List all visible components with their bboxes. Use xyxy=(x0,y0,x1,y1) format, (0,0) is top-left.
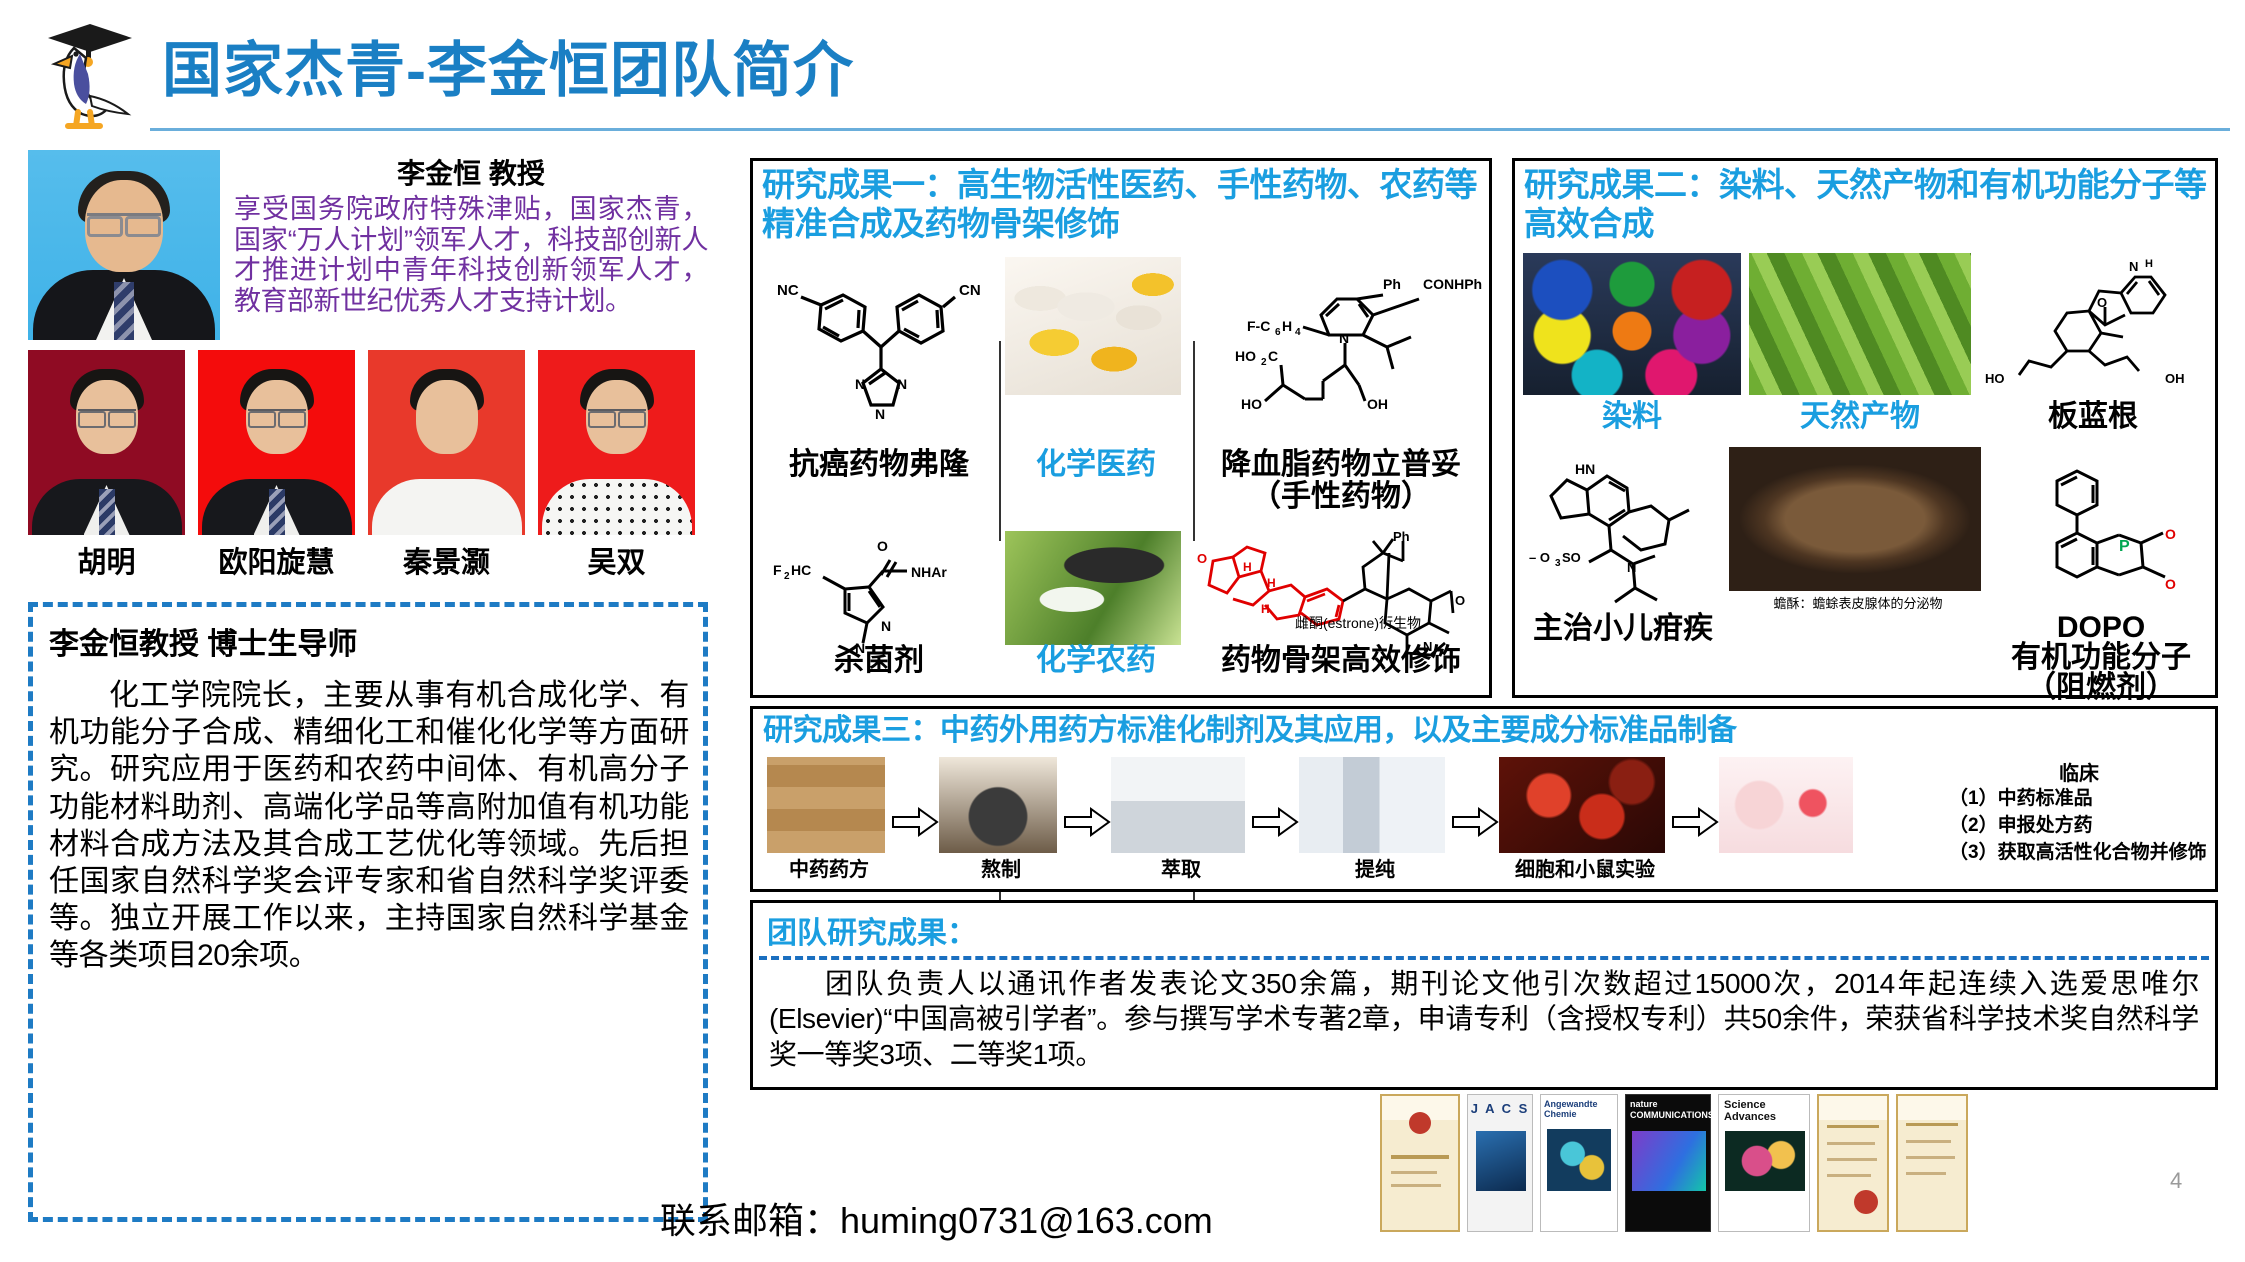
svg-text:Ph: Ph xyxy=(1383,276,1401,292)
flow-step: 熬制 xyxy=(939,757,1063,882)
svg-text:H: H xyxy=(2145,258,2153,270)
panel1-label-5: 化学农药 xyxy=(999,645,1193,677)
certificate-image-2 xyxy=(1817,1094,1889,1232)
clinical-list-title: 临床 xyxy=(1949,757,2209,786)
svg-text:O: O xyxy=(1197,551,1207,566)
panel2-cell-4: HN – O 3 SO N xyxy=(1523,447,1723,637)
panel1-label-3: 降血脂药物立普妥 （手性药物） xyxy=(1193,449,1489,512)
atorvastatin-structure-icon: Ph CONHPh F-C 6 H 4 HO 2 C HO OH xyxy=(1187,253,1487,443)
professor-text: 李金恒 教授 享受国务院政府特殊津贴，国家杰青，国家“万人计划”领军人才，科技部… xyxy=(234,150,708,316)
panel2-cell-3: N H HO OH O xyxy=(1979,253,2207,403)
toad-note: 蟾酥：蟾蜍表皮腺体的分泌物 xyxy=(1729,593,1987,612)
svg-text:OH: OH xyxy=(1367,396,1388,412)
student-name: 胡明 xyxy=(28,539,185,581)
svg-text:OH: OH xyxy=(2165,371,2185,386)
svg-text:H: H xyxy=(1267,576,1276,590)
flow-step: 细胞和小鼠实验 xyxy=(1499,757,1671,882)
svg-text:– O: – O xyxy=(1529,550,1550,565)
clinical-list-item: （3）获取高活性化合物并修饰 xyxy=(1949,840,2209,867)
student-avatar xyxy=(28,350,185,535)
professor-detail-body: 化工学院院长，主要从事有机合成化学、有机功能分子合成、精细化工和催化化学等方面研… xyxy=(49,677,689,975)
svg-text:HO: HO xyxy=(1235,348,1256,364)
flow-arrow-icon xyxy=(1251,805,1299,839)
dopo-structure-icon: P O O xyxy=(1993,447,2209,637)
flow-arrow-icon xyxy=(891,805,939,839)
professor-detail-title: 李金恒教授 博士生导师 xyxy=(49,619,689,663)
svg-text:H: H xyxy=(1282,318,1292,334)
panel1-cell-6: Ph O H H H xyxy=(1187,527,1487,657)
svg-text:2: 2 xyxy=(1261,357,1267,368)
professor-avatar xyxy=(28,150,220,340)
toad-photo xyxy=(1729,447,1981,591)
panel2-label-2: 天然产物 xyxy=(1749,401,1971,433)
clinical-list-item: （2）申报处方药 xyxy=(1949,813,2209,840)
cell-mouse-experiment-photo xyxy=(1499,757,1665,853)
page-title: 国家杰青-李金恒团队简介 xyxy=(162,22,854,109)
student-name: 欧阳旋慧 xyxy=(198,539,355,581)
student-photo-row: 胡明 欧阳旋慧 秦景灏 吴双 xyxy=(28,350,708,580)
research-panel-1-title: 研究成果一：高生物活性医药、手性药物、农药等精准合成及药物骨架修饰 xyxy=(753,161,1489,243)
svg-text:N: N xyxy=(1627,560,1636,575)
certificate-image-3 xyxy=(1896,1094,1968,1232)
team-achievements-body: 团队负责人以通讯作者发表论文350余篇，期刊论文他引次数超过15000次，201… xyxy=(753,966,2215,1072)
svg-text:O: O xyxy=(2165,576,2176,592)
clinical-list-item: （1）中药标准品 xyxy=(1949,786,2209,813)
svg-text:N: N xyxy=(897,376,907,392)
team-achievements-divider xyxy=(759,956,2209,960)
svg-text:CN: CN xyxy=(959,282,981,299)
student-card: 秦景灏 xyxy=(368,350,525,580)
panel2-label-3: 板蓝根 xyxy=(1979,401,2207,433)
fungicide-structure-icon: F 2 HC O NHAr N N xyxy=(759,527,999,657)
svg-text:NHAr: NHAr xyxy=(911,564,947,580)
flow-step-label: 提纯 xyxy=(1299,853,1451,882)
svg-text:SO: SO xyxy=(1562,550,1581,565)
flow-step: 中药药方 xyxy=(767,757,891,882)
estrone-derivative-structure-icon: Ph O H H H xyxy=(1187,527,1487,657)
svg-text:N: N xyxy=(881,618,891,634)
professor-detail-box: 李金恒教授 博士生导师 化工学院院长，主要从事有机合成化学、有机功能分子合成、精… xyxy=(28,602,708,1222)
panel2-cell-5: 蟾酥：蟾蜍表皮腺体的分泌物 xyxy=(1729,447,1987,637)
panel1-label-1: 抗癌药物弗隆 xyxy=(759,449,999,512)
svg-text:HO: HO xyxy=(1241,396,1262,412)
student-name: 吴双 xyxy=(538,539,695,581)
svg-text:N: N xyxy=(855,376,865,392)
research-panel-1: 研究成果一：高生物活性医药、手性药物、农药等精准合成及药物骨架修饰 NC CN xyxy=(750,158,1492,698)
flow-step-label: 中药药方 xyxy=(767,853,891,882)
panel1-label-6: 药物骨架高效修饰 xyxy=(1193,645,1489,677)
svg-text:Ph: Ph xyxy=(1393,529,1410,544)
pills-photo xyxy=(1005,257,1181,395)
svg-text:6: 6 xyxy=(1275,327,1281,338)
research-panel-2-title: 研究成果二：染料、天然产物和有机功能分子等高效合成 xyxy=(1515,161,2215,243)
svg-text:O: O xyxy=(877,538,888,554)
panel1-cell-5 xyxy=(999,527,1187,657)
student-avatar xyxy=(198,350,355,535)
research-panel-3-title: 研究成果三：中药外用药方标准化制剂及其应用，以及主要成分标准品制备 xyxy=(753,709,2215,748)
svg-text:NC: NC xyxy=(777,282,799,299)
svg-text:F: F xyxy=(773,562,782,578)
student-avatar xyxy=(368,350,525,535)
flow-step-label: 熬制 xyxy=(939,853,1063,882)
panel1-label-2: 化学医药 xyxy=(999,449,1193,512)
student-avatar xyxy=(538,350,695,535)
clinical-list: 临床 （1）中药标准品 （2）申报处方药 （3）获取高活性化合物并修饰 xyxy=(1949,757,2209,867)
journal-cover-nature-comm: nature COMMUNICATIONS xyxy=(1625,1094,1711,1232)
svg-text:4: 4 xyxy=(1295,327,1301,338)
header-divider xyxy=(150,128,2230,131)
panel1-cell-3: Ph CONHPh F-C 6 H 4 HO 2 C HO OH xyxy=(1187,253,1487,443)
svg-text:O: O xyxy=(2165,526,2176,542)
svg-text:2: 2 xyxy=(784,571,790,582)
left-column: 李金恒 教授 享受国务院政府特殊津贴，国家杰青，国家“万人计划”领军人才，科技部… xyxy=(28,150,708,1230)
flow-step-label: 细胞和小鼠实验 xyxy=(1499,853,1671,882)
flow-step: 萃取 xyxy=(1111,757,1251,882)
research-panel-3: 研究成果三：中药外用药方标准化制剂及其应用，以及主要成分标准品制备 中药药方 熬… xyxy=(750,706,2218,892)
dye-photo xyxy=(1523,253,1741,395)
research-panel-2: 研究成果二：染料、天然产物和有机功能分子等高效合成 N H HO OH O xyxy=(1512,158,2218,698)
flow-arrow-icon xyxy=(1063,805,1111,839)
team-achievements-panel: 团队研究成果： 团队负责人以通讯作者发表论文350余篇，期刊论文他引次数超过15… xyxy=(750,900,2218,1090)
flow-arrow-icon xyxy=(1671,805,1719,839)
estrone-note: 雌酮(estrone)衍生物 xyxy=(1223,613,1493,633)
crop-spray-photo xyxy=(1005,531,1181,645)
svg-text:N: N xyxy=(875,406,885,422)
panel1-label-4: 杀菌剂 xyxy=(759,645,999,677)
journal-cover-angewandte: Angewandte Chemie xyxy=(1540,1094,1618,1232)
contact-email: 联系邮箱：huming0731@163.com xyxy=(660,1192,1213,1244)
svg-text:F-C: F-C xyxy=(1247,318,1270,334)
decoction-photo xyxy=(939,757,1057,853)
extraction-equipment-photo xyxy=(1111,757,1245,853)
svg-text:N: N xyxy=(2129,259,2138,274)
student-card: 欧阳旋慧 xyxy=(198,350,355,580)
journal-cover-science-advances: Science Advances xyxy=(1718,1094,1810,1232)
alkaloid-structure-icon: HN – O 3 SO N xyxy=(1523,447,1723,637)
professor-bio: 享受国务院政府特殊津贴，国家杰青，国家“万人计划”领军人才，科技部创新人才推进计… xyxy=(234,194,708,316)
certificate-image xyxy=(1380,1094,1460,1232)
panel2-label-1: 染料 xyxy=(1523,401,1741,433)
slide-header: 国家杰青-李金恒团队简介 xyxy=(0,0,2245,140)
publications-media-strip: J A C S Angewandte Chemie nature COMMUNI… xyxy=(1380,1092,2000,1232)
herb-formula-photo xyxy=(767,757,885,853)
flow-step xyxy=(1719,757,1859,853)
panel2-cell-6: P O O xyxy=(1993,447,2209,637)
flow-step: 提纯 xyxy=(1299,757,1451,882)
flow-arrow-icon xyxy=(1451,805,1499,839)
slide-root: 国家杰青-李金恒团队简介 李金恒 教授 享受国务院政府特殊津贴，国家杰青，国家“… xyxy=(0,0,2245,1262)
clinical-diagram-photo xyxy=(1719,757,1853,853)
svg-text:CONHPh: CONHPh xyxy=(1423,276,1482,292)
svg-text:N: N xyxy=(1339,330,1349,346)
svg-text:C: C xyxy=(1268,348,1278,364)
svg-text:3: 3 xyxy=(1555,558,1561,569)
panel1-cell-2 xyxy=(999,253,1187,443)
svg-text:H: H xyxy=(1243,560,1252,574)
natural-product-plant-photo xyxy=(1749,253,1971,395)
professor-name: 李金恒 教授 xyxy=(234,152,708,192)
svg-text:HC: HC xyxy=(791,562,811,578)
purification-equipment-photo xyxy=(1299,757,1445,853)
banlangen-structure-icon: N H HO OH O xyxy=(1979,253,2207,403)
svg-text:HO: HO xyxy=(1985,371,2005,386)
letrozole-structure-icon: NC CN N xyxy=(759,253,999,443)
flow-step-label: 萃取 xyxy=(1111,853,1251,882)
svg-text:O: O xyxy=(1455,593,1465,608)
professor-block: 李金恒 教授 享受国务院政府特殊津贴，国家杰青，国家“万人计划”领军人才，科技部… xyxy=(28,150,708,340)
team-achievements-title: 团队研究成果： xyxy=(753,903,2215,956)
panel1-cell-4: F 2 HC O NHAr N N xyxy=(759,527,999,657)
panel2-label-4: 主治小儿疳疾 xyxy=(1523,613,1723,703)
journal-cover-jacs: J A C S xyxy=(1467,1094,1533,1232)
panel2-label-5: DOPO 有机功能分子 （阻燃剂） xyxy=(1993,613,2209,703)
page-number: 4 xyxy=(2170,1168,2182,1194)
panel1-cell-1: NC CN N xyxy=(759,253,999,443)
student-name: 秦景灏 xyxy=(368,539,525,581)
svg-text:P: P xyxy=(2119,538,2130,555)
svg-text:HN: HN xyxy=(1575,461,1595,477)
student-card: 胡明 xyxy=(28,350,185,580)
student-card: 吴双 xyxy=(538,350,695,580)
graduation-bird-mascot-icon xyxy=(28,10,148,130)
